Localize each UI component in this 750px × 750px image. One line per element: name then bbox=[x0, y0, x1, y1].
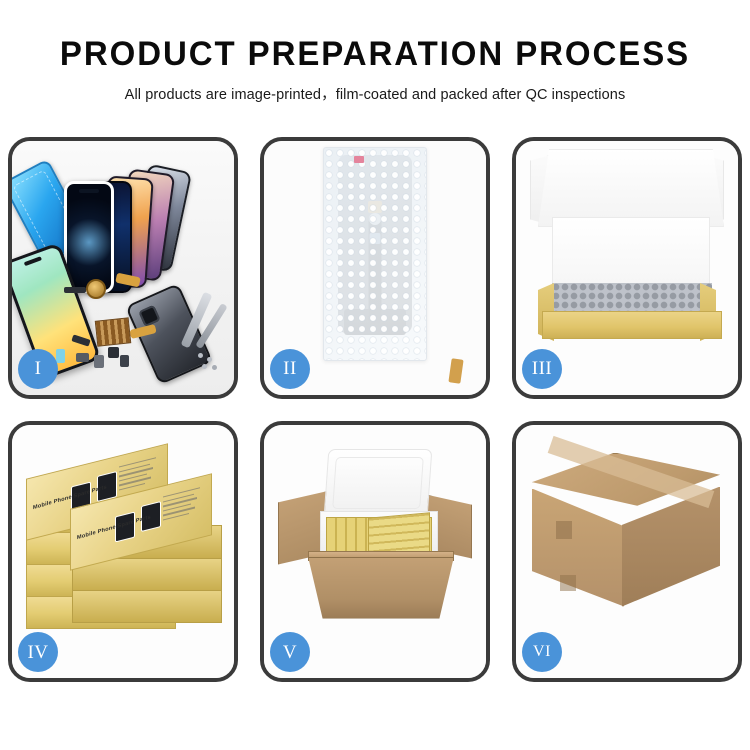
small-part-6 bbox=[120, 355, 129, 367]
box-stack: Mobile Phone Spare Parts Mobile Phone Sp… bbox=[20, 439, 234, 639]
box-label-front: Mobile Phone Spare Parts bbox=[77, 514, 151, 541]
phone-notch bbox=[79, 189, 99, 193]
foam-sheet bbox=[552, 217, 710, 285]
product-preparation-infographic: PRODUCT PREPARATION PROCESS All products… bbox=[0, 0, 750, 750]
carton-tab-1 bbox=[556, 521, 572, 539]
styrofoam-lid bbox=[324, 449, 433, 517]
process-step-6: VI bbox=[512, 421, 742, 683]
step-badge-5: V bbox=[270, 632, 310, 672]
step-badge-3: III bbox=[522, 349, 562, 389]
box-lid bbox=[538, 149, 724, 227]
stacked-box-front-4 bbox=[72, 589, 222, 623]
step-badge-1: I bbox=[18, 349, 58, 389]
bubble-wrap-sheet bbox=[323, 147, 427, 361]
step-badge-2: II bbox=[270, 349, 310, 389]
small-part-7 bbox=[56, 349, 65, 363]
header: PRODUCT PREPARATION PROCESS All products… bbox=[0, 0, 750, 104]
chip-grid-part bbox=[95, 317, 132, 346]
process-step-2: II bbox=[260, 137, 490, 399]
box-front-panel bbox=[542, 311, 722, 339]
lcd-tape-right bbox=[448, 358, 463, 383]
step-badge-6: VI bbox=[522, 632, 562, 672]
process-step-4: Mobile Phone Spare Parts Mobile Phone Sp… bbox=[8, 421, 238, 683]
process-step-1: I bbox=[8, 137, 238, 399]
screws-group bbox=[198, 353, 203, 358]
pink-seal-tab bbox=[354, 156, 364, 163]
small-part-5 bbox=[94, 355, 104, 368]
lid-feature-list-front bbox=[163, 486, 203, 526]
small-part-4 bbox=[76, 353, 89, 362]
step-badge-4: IV bbox=[18, 632, 58, 672]
small-part-3 bbox=[108, 347, 119, 358]
small-part-1 bbox=[64, 287, 86, 293]
speaker-coil-part bbox=[86, 279, 106, 299]
carton-front-panel bbox=[308, 557, 454, 619]
page-subtitle: All products are image-printed，film-coat… bbox=[0, 83, 750, 104]
carton-left-face bbox=[532, 489, 624, 607]
carton-tab-2 bbox=[560, 575, 576, 591]
process-step-3: III bbox=[512, 137, 742, 399]
process-step-5: V bbox=[260, 421, 490, 683]
page-title: PRODUCT PREPARATION PROCESS bbox=[11, 34, 739, 74]
process-step-grid: I II bbox=[8, 137, 742, 682]
